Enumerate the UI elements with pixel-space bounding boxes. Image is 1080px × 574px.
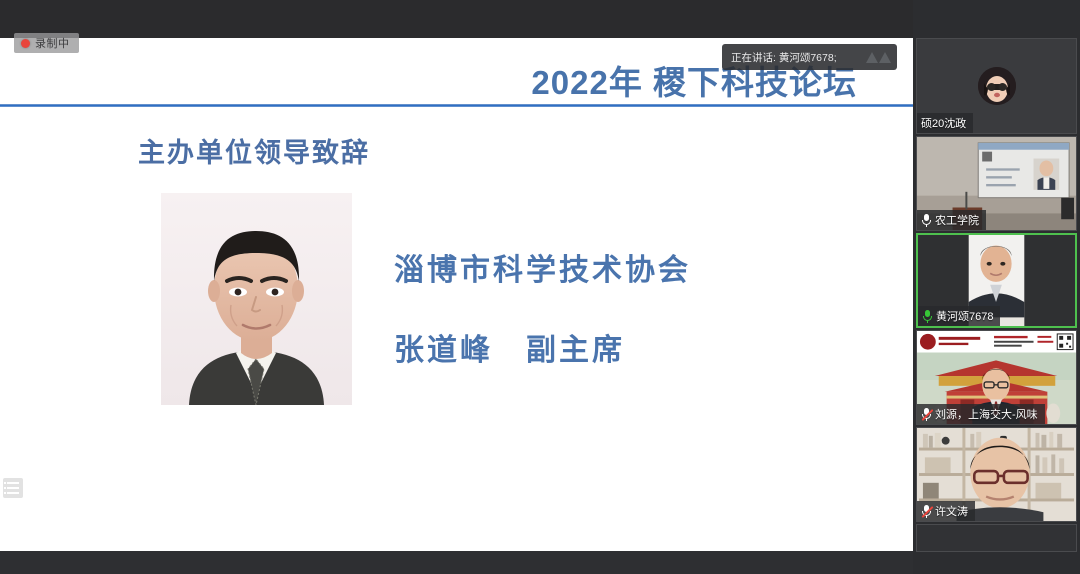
- bottom-bar: [0, 551, 913, 574]
- participant-video-strip[interactable]: 硕20沈政: [913, 0, 1080, 574]
- speaker-portrait-photo: [161, 193, 352, 405]
- mic-active-icon: [922, 310, 933, 323]
- shared-screen-slide: 2022年 稷下科技论坛 主办单位领导致辞: [0, 0, 913, 551]
- participant-tile-active-speaker[interactable]: 黄河颂7678: [916, 233, 1077, 328]
- participant-tile[interactable]: 许文涛: [916, 427, 1077, 522]
- avatar: [978, 67, 1016, 105]
- mic-muted-icon: [921, 408, 932, 421]
- participant-label: 硕20沈政: [917, 113, 973, 133]
- slide-divider: [0, 104, 913, 107]
- organization-line: 淄博市科学技术协会: [394, 245, 691, 289]
- participant-name: 农工学院: [935, 212, 979, 228]
- audio-wave-icon: [866, 52, 891, 63]
- recording-label: 录制中: [35, 35, 70, 51]
- record-dot-icon: [21, 39, 30, 48]
- slide-body-text: 淄博市科学技术协会 张道峰 副主席: [394, 245, 691, 369]
- participant-label: 刘源，上海交大-风味: [917, 404, 1045, 424]
- participant-tile[interactable]: [916, 524, 1077, 552]
- mic-muted-icon: [921, 214, 932, 227]
- speaker-name-line: 张道峰 副主席: [394, 325, 691, 369]
- participant-tile[interactable]: 刘源，上海交大-风味: [916, 330, 1077, 425]
- list-icon[interactable]: [3, 478, 23, 498]
- active-speaker-label: 正在讲话: 黄河颂7678;: [731, 50, 866, 65]
- recording-indicator[interactable]: 录制中: [14, 33, 79, 53]
- participant-name: 硕20沈政: [921, 115, 966, 131]
- zoom-meeting-window: 2022年 稷下科技论坛 主办单位领导致辞: [0, 0, 1080, 574]
- participant-name: 黄河颂7678: [936, 308, 993, 324]
- active-speaker-badge: 正在讲话: 黄河颂7678;: [722, 44, 897, 70]
- participant-tile[interactable]: 农工学院: [916, 136, 1077, 231]
- participant-label: 农工学院: [917, 210, 986, 230]
- slide-subtitle: 主办单位领导致辞: [138, 131, 370, 170]
- participant-label: 黄河颂7678: [918, 306, 1000, 326]
- participant-label: 许文涛: [917, 501, 975, 521]
- participant-tile[interactable]: 硕20沈政: [916, 38, 1077, 134]
- participant-name: 许文涛: [935, 503, 968, 519]
- mic-muted-icon: [921, 505, 932, 518]
- share-toolbar-strip: [0, 0, 913, 38]
- participant-name: 刘源，上海交大-风味: [935, 406, 1038, 422]
